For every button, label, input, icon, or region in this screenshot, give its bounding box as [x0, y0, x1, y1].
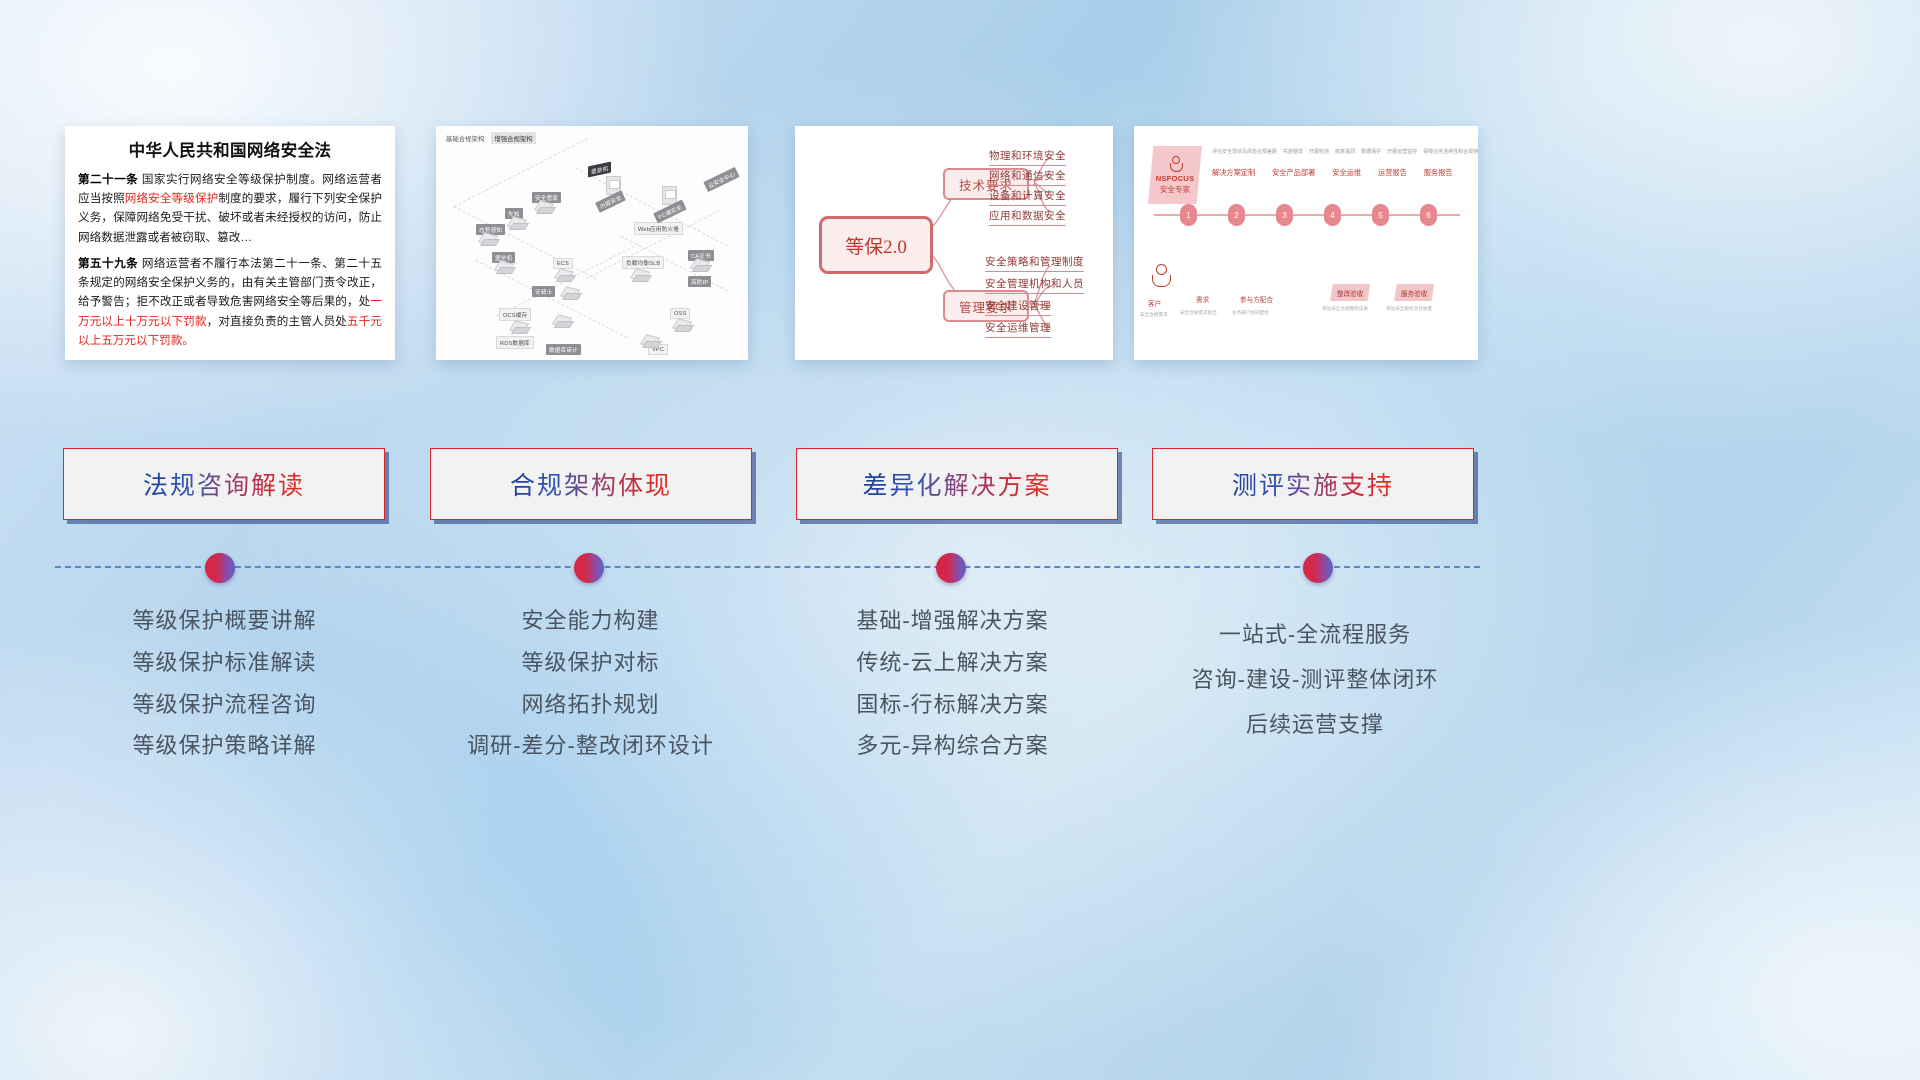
mindmap-leaf-device-compute: 设备和计算安全	[989, 188, 1066, 206]
list-item: 多元-异构综合方案	[790, 725, 1115, 767]
card-dengbao-mindmap: 等保2.0 技术要求 物理和环境安全 网络和通信安全 设备和计算安全 应用和数据…	[795, 126, 1113, 360]
header-box-compliance-architecture[interactable]: 合规架构体现	[430, 448, 752, 520]
role-sub-participation: 业务部门协同配合	[1232, 310, 1269, 316]
timeline-node-2[interactable]	[574, 553, 604, 583]
list-item: 等级保护对标	[428, 642, 753, 684]
list-item: 一站式-全流程服务	[1150, 612, 1480, 657]
capability-1: 安全产品部署	[1272, 168, 1315, 178]
node-rds-database: RDS数据库	[496, 336, 534, 349]
timeline-step-2[interactable]: 2	[1228, 204, 1245, 226]
mindmap-leaf-policy-system: 安全策略和管理制度	[985, 254, 1084, 272]
mindmap-leaf-physical-environment: 物理和环境安全	[989, 148, 1066, 166]
law-title: 中华人民共和国网络安全法	[78, 137, 382, 161]
detail-column-assessment-support: 一站式-全流程服务 咨询-建设-测评整体闭环 后续运营支撑	[1150, 612, 1480, 747]
node-ocs-cache: OCS缓存	[499, 308, 531, 321]
mindmap-leaf-construction-mgmt: 安全建设管理	[985, 298, 1051, 316]
list-item: 等级保护概要讲解	[62, 600, 387, 642]
list-item: 传统-云上解决方案	[790, 642, 1115, 684]
article-59-label: 第五十九条	[78, 257, 138, 270]
detail-list-row: 等级保护概要讲解 等级保护标准解读 等级保护流程咨询 等级保护策略详解 安全能力…	[0, 600, 1920, 820]
timeline-step-3[interactable]: 3	[1276, 204, 1293, 226]
section-header-row: 法规咨询解读 合规架构体现 差异化解决方案 测评实施支持	[0, 448, 1920, 520]
header-label-3: 测评实施支持	[1232, 466, 1394, 502]
article-59-text-b: ，对直接负责的主管人员处	[207, 315, 347, 328]
top-label-2: 开展检测	[1309, 148, 1329, 155]
media-card-row: 中华人民共和国网络安全法 第二十一条 国家实行网络安全等级保护制度。网络运营者应…	[0, 126, 1920, 364]
list-item: 等级保护策略详解	[62, 725, 387, 767]
list-item: 基础-增强解决方案	[790, 600, 1115, 642]
mindmap-root: 等保2.0	[819, 216, 933, 274]
node-anti-ddos-ip: 高防IP	[688, 276, 711, 287]
customer-label: 客户	[1148, 298, 1161, 308]
node-database-audit: 数据库审计	[546, 344, 581, 355]
capability-0: 解决方案定制	[1212, 168, 1255, 178]
header-box-differentiated-solution[interactable]: 差异化解决方案	[796, 448, 1118, 520]
header-label-1: 合规架构体现	[510, 466, 672, 502]
outcome-tag-service: 服务验收	[1394, 284, 1434, 301]
capability-3: 运营报告	[1378, 168, 1407, 178]
nsfocus-logo-sub: 安全专家	[1160, 184, 1190, 195]
top-label-1: 实施整改	[1283, 148, 1303, 155]
list-item: 后续运营支撑	[1150, 702, 1480, 747]
law-article-59: 第五十九条 网络运营者不履行本法第二十一条、第二十五条规定的网络安全保护义务的，…	[78, 254, 382, 350]
detail-column-differentiated-solution: 基础-增强解决方案 传统-云上解决方案 国标-行标解决方案 多元-异构综合方案	[790, 600, 1115, 767]
timeline-step-6[interactable]: 6	[1420, 204, 1437, 226]
nsfocus-logo: NSFOCUS 安全专家	[1148, 146, 1202, 204]
header-box-regulation-consulting[interactable]: 法规咨询解读	[63, 448, 385, 520]
nsfocus-capability-labels: 解决方案定制 安全产品部署 安全运维 运营报告 服务报告	[1212, 168, 1453, 178]
customer-person-icon	[1150, 264, 1176, 294]
top-label-3: 修复漏洞	[1335, 148, 1355, 155]
node-web-application-firewall: Web应用防火墙	[634, 222, 683, 235]
detail-column-compliance-architecture: 安全能力构建 等级保护对标 网络拓扑规划 调研-差分-整改闭环设计	[428, 600, 753, 767]
timeline-step-5[interactable]: 5	[1372, 204, 1389, 226]
top-label-0: 评估安全现状及风险合规差距	[1212, 148, 1277, 155]
list-item: 等级保护标准解读	[62, 642, 387, 684]
article-21-label: 第二十一条	[78, 173, 138, 186]
timeline-step-1[interactable]: 1	[1180, 204, 1197, 226]
timeline-node-1[interactable]	[205, 553, 235, 583]
timeline-node-3[interactable]	[936, 553, 966, 583]
role-label-requirement: 需求	[1196, 294, 1209, 304]
top-label-6: 保障业务连续性和合规持续性	[1423, 148, 1478, 155]
role-label-participation: 参与方配合	[1240, 294, 1273, 304]
card-nsfocus-service-timeline: NSFOCUS 安全专家 评估安全现状及风险合规差距 实施整改 开展检测 修复漏…	[1134, 126, 1478, 360]
guide-line	[454, 138, 588, 207]
card-compliance-architecture: 基础合规架构 增强合规架构 堡垒机 安全管家 先知	[436, 126, 748, 360]
node-ecs: ECS	[553, 258, 573, 269]
list-item: 安全能力构建	[428, 600, 753, 642]
top-label-4: 数据保护	[1361, 148, 1381, 155]
law-article-21: 第二十一条 国家实行网络安全等级保护制度。网络运营者应当按照网络安全等级保护制度…	[78, 170, 382, 247]
nsfocus-top-labels: 评估安全现状及风险合规差距 实施整改 开展检测 修复漏洞 数据保护 开展运营监控…	[1212, 148, 1478, 155]
mindmap: 等保2.0 技术要求 物理和环境安全 网络和通信安全 设备和计算安全 应用和数据…	[795, 126, 1113, 360]
node-oss: OSS	[670, 308, 690, 319]
architecture-diagram: 基础合规架构 增强合规架构 堡垒机 安全管家 先知	[436, 126, 748, 360]
list-item: 国标-行标解决方案	[790, 684, 1115, 726]
law-text-block: 中华人民共和国网络安全法 第二十一条 国家实行网络安全等级保护制度。网络运营者应…	[65, 126, 395, 360]
list-item: 调研-差分-整改闭环设计	[428, 725, 753, 767]
outcome-tag-rectification: 整改验收	[1330, 284, 1370, 301]
list-item: 网络拓扑规划	[428, 684, 753, 726]
mindmap-leaf-application-data: 应用和数据安全	[989, 208, 1066, 226]
architecture-canvas: 堡垒机 安全管家 先知 态势感知 堡垒机 ECS 安骑士 OCS缓存	[436, 140, 748, 360]
nsfocus-timeline: NSFOCUS 安全专家 评估安全现状及风险合规差距 实施整改 开展检测 修复漏…	[1134, 126, 1478, 360]
capability-4: 服务报告	[1424, 168, 1453, 178]
nsfocus-logo-name: NSFOCUS	[1156, 174, 1195, 183]
detail-column-regulation-consulting: 等级保护概要讲解 等级保护标准解读 等级保护流程咨询 等级保护策略详解	[62, 600, 387, 767]
header-label-2: 差异化解决方案	[862, 466, 1051, 502]
outcome-sub-service: 评估安全服务交付质量	[1386, 306, 1432, 312]
capability-2: 安全运维	[1332, 168, 1361, 178]
poster-root: 中华人民共和国网络安全法 第二十一条 国家实行网络安全等级保护制度。网络运营者应…	[0, 0, 1920, 1080]
timeline-node-4[interactable]	[1303, 553, 1333, 583]
article-21-highlight: 网络安全等级保护	[125, 192, 219, 205]
timeline-dashed-line	[55, 566, 1480, 570]
card-cybersecurity-law: 中华人民共和国网络安全法 第二十一条 国家实行网络安全等级保护制度。网络运营者应…	[65, 126, 395, 360]
list-item: 咨询-建设-测评整体闭环	[1150, 657, 1480, 702]
mindmap-leaf-network-communication: 网络和通信安全	[989, 168, 1066, 186]
mindmap-leaf-operations-mgmt: 安全运维管理	[985, 320, 1051, 338]
node-security-knight: 安骑士	[532, 286, 555, 297]
list-item: 等级保护流程咨询	[62, 684, 387, 726]
node-load-balancer-slb: 负载均衡SLB	[622, 256, 664, 269]
outcome-sub-rectification: 评估安全合规整改成果	[1322, 306, 1368, 312]
expert-person-icon	[1169, 156, 1182, 171]
customer-sub: 安全合规需求	[1140, 312, 1168, 318]
top-label-5: 开展运营监控	[1387, 148, 1417, 155]
mindmap-leaf-org-personnel: 安全管理机构和人员	[985, 276, 1084, 294]
header-box-assessment-support[interactable]: 测评实施支持	[1152, 448, 1474, 520]
header-label-0: 法规咨询解读	[143, 466, 305, 502]
timeline-axis	[1154, 214, 1460, 216]
node-cloud-security-center: 云安全中心	[703, 167, 739, 192]
role-sub-requirement: 安全合规需求提出	[1180, 310, 1217, 316]
timeline-step-4[interactable]: 4	[1324, 204, 1341, 226]
